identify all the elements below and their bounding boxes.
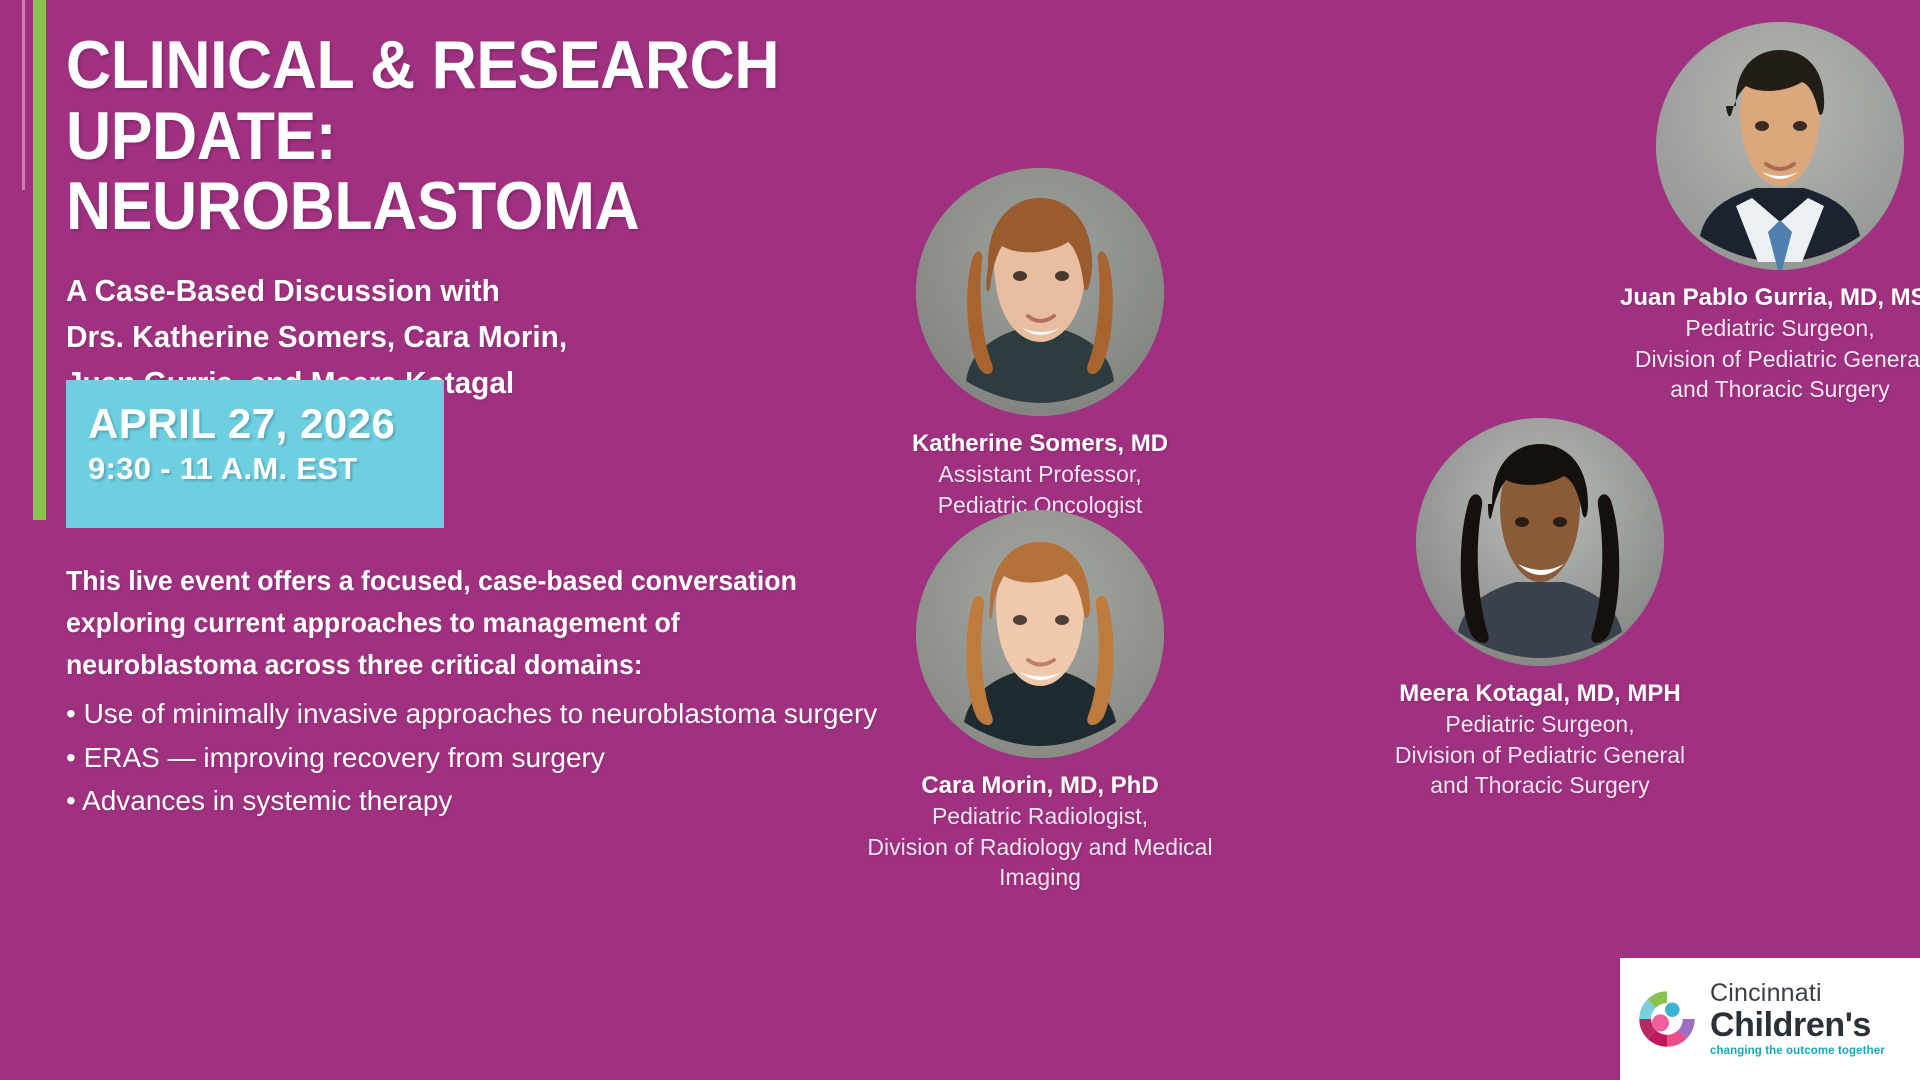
event-time: 9:30 - 11 A.M. EST — [88, 450, 444, 489]
childrens-swirl-icon — [1634, 986, 1700, 1052]
avatar-gurria — [1656, 22, 1904, 270]
speaker-card-kotagal: Meera Kotagal, MD, MPH Pediatric Surgeon… — [1290, 418, 1790, 801]
cincinnati-childrens-logo: Cincinnati Children's changing the outco… — [1620, 958, 1920, 1080]
thin-accent-line — [22, 0, 25, 190]
speaker-name: Katherine Somers, MD — [830, 428, 1250, 459]
speaker-name: Meera Kotagal, MD, MPH — [1290, 678, 1790, 709]
logo-wordmark: Cincinnati Children's changing the outco… — [1710, 981, 1885, 1058]
list-item: • Use of minimally invasive approaches t… — [66, 692, 886, 735]
speaker-card-morin: Cara Morin, MD, PhD Pediatric Radiologis… — [830, 510, 1250, 893]
speaker-card-somers: Katherine Somers, MD Assistant Professor… — [830, 168, 1250, 520]
list-item: • ERAS — improving recovery from surgery — [66, 736, 886, 779]
speaker-name: Cara Morin, MD, PhD — [830, 770, 1250, 801]
logo-tagline: changing the outcome together — [1710, 1046, 1885, 1058]
speaker-name: Juan Pablo Gurria, MD, MSc — [1530, 282, 1920, 313]
topic-bullet-list: • Use of minimally invasive approaches t… — [66, 692, 886, 822]
body-intro-text: This live event offers a focused, case-b… — [66, 560, 861, 686]
speaker-role: Pediatric Surgeon, Division of Pediatric… — [1530, 313, 1920, 405]
logo-line-childrens: Children's — [1710, 1008, 1885, 1042]
avatar-kotagal — [1416, 418, 1664, 666]
speaker-role: Pediatric Radiologist, Division of Radio… — [830, 801, 1250, 893]
speaker-role: Pediatric Surgeon, Division of Pediatric… — [1290, 709, 1790, 801]
speaker-card-gurria: Juan Pablo Gurria, MD, MSc Pediatric Sur… — [1530, 22, 1920, 405]
green-accent-stripe — [33, 0, 46, 520]
list-item: • Advances in systemic therapy — [66, 779, 886, 822]
avatar-somers — [916, 168, 1164, 416]
logo-line-cincinnati: Cincinnati — [1710, 981, 1885, 1006]
event-date: APRIL 27, 2026 — [88, 402, 444, 446]
body-copy: This live event offers a focused, case-b… — [66, 560, 886, 822]
avatar-morin — [916, 510, 1164, 758]
date-badge: APRIL 27, 2026 9:30 - 11 A.M. EST — [66, 380, 444, 528]
